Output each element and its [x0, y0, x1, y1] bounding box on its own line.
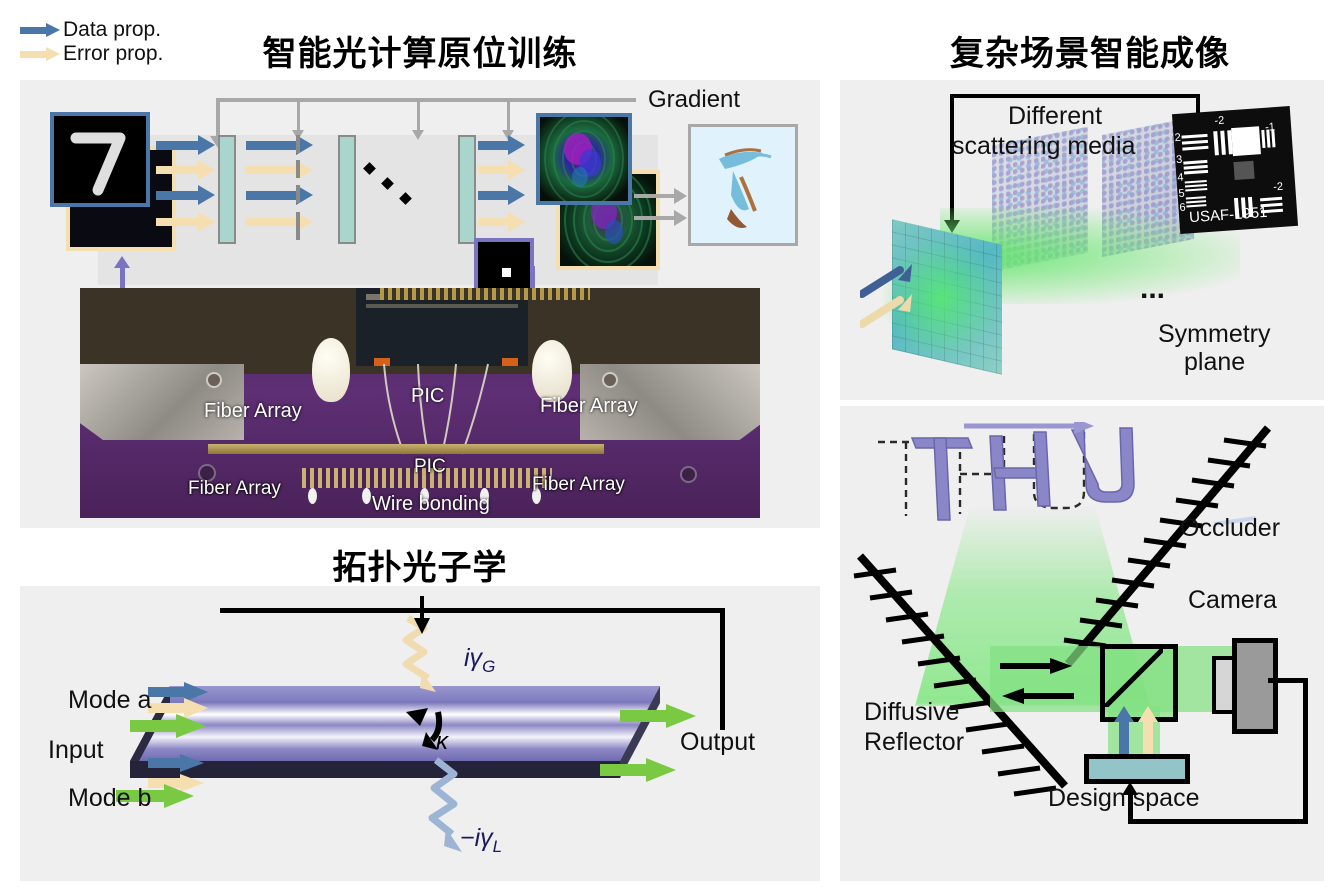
beam-arrow-forward: [1000, 658, 1074, 679]
optical-layer-plate: [218, 135, 236, 244]
camera-body: [1232, 638, 1278, 734]
gradient-drop-arrow-2: [412, 130, 424, 140]
gradient-heatmap: [691, 127, 795, 243]
beam-arrow-backward: [1000, 688, 1074, 709]
mode-b-label: Mode b: [68, 784, 151, 812]
design-space-arrow-error: [1138, 706, 1158, 759]
speckle-pattern: [540, 117, 628, 201]
usaf-1951-target: USAF-1951 -2 -1 -2 2 3 4 5 6: [1172, 106, 1298, 234]
chip-overlay-label-wire-bonding: Wire bonding: [372, 493, 490, 516]
page-title-imaging: 复杂场景智能成像: [840, 26, 1340, 75]
panel-training: Gradient: [20, 80, 820, 528]
input-arrow-mode-a-signal: [130, 714, 208, 743]
panel-optics-setup: Occluder Camera Diffusive Reflector Desi…: [840, 406, 1324, 881]
panel-topology: Mode a Input Mode b Output κ iγG −iγL: [20, 586, 820, 881]
input-label: Input: [48, 736, 104, 764]
camera-label: Camera: [1188, 586, 1277, 614]
gain-symbol-label: iγG: [464, 644, 495, 677]
chip-overlay-label-fiber-array-left: Fiber Array: [204, 400, 302, 423]
output-label: Output: [680, 728, 755, 756]
symmetry-plane-label-line1: Symmetry: [1158, 320, 1271, 348]
gain-symbol-sub: G: [482, 657, 495, 676]
optical-layer-plate: [338, 135, 356, 244]
design-space-arrow-data: [1114, 706, 1134, 759]
gain-incoming-arrow: [412, 596, 436, 641]
gradient-line-down: [216, 98, 220, 140]
gain-symbol-text: iγ: [464, 644, 482, 672]
incident-arrow-data: [860, 264, 916, 298]
scattering-media-label-line2: scattering media: [952, 132, 1135, 160]
chip-overlay-label-fiber-array-right: Fiber Array: [540, 395, 638, 418]
page-title-training: 智能光计算原位训练: [20, 26, 820, 75]
chip-label-pic: PIC: [414, 456, 446, 478]
usaf-label: USAF-1951: [1189, 203, 1280, 227]
gradient-drop-2: [417, 102, 420, 132]
bond-wires: [370, 362, 550, 456]
chip-label-fiber-array-left: Fiber Array: [188, 478, 281, 500]
gradient-drop-3: [507, 102, 510, 132]
loss-symbol-label: −iγL: [460, 824, 502, 857]
diffusive-reflector-label-line1: Diffusive: [864, 698, 959, 726]
occluder-label: Occluder: [1180, 514, 1280, 542]
design-space-plate: [1084, 754, 1190, 784]
ellipsis-label: ...: [1140, 272, 1165, 306]
panel-imaging: USAF-1951 -2 -1 -2 2 3 4 5 6 Different s…: [840, 80, 1324, 400]
scattering-media-label-line1: Different: [1008, 102, 1102, 130]
gradient-drop-1: [297, 102, 300, 132]
usaf-pointer-line: [952, 94, 1200, 98]
gradient-label: Gradient: [648, 87, 740, 114]
output-data-speckle: [536, 113, 632, 205]
gold-pad-row-top: [380, 288, 590, 300]
loss-symbol-sub: L: [493, 837, 502, 856]
coupling-arrow-icon: [398, 706, 460, 761]
optical-layer-plate: [458, 135, 476, 244]
output-arrow-bottom: [600, 758, 678, 787]
mode-a-label: Mode a: [68, 686, 151, 714]
gradient-map-image: [688, 124, 798, 246]
incident-arrow-error: [860, 294, 916, 328]
digit-seven-glyph: [54, 116, 146, 203]
page-title-topology: 拓扑光子学: [20, 540, 820, 589]
chip-label-fiber-array-right: Fiber Array: [532, 474, 625, 496]
chip-overlay-label-pic: PIC: [411, 385, 444, 408]
coupling-kappa-label: κ: [436, 728, 448, 756]
loss-zigzag-icon: [418, 756, 498, 881]
symmetry-plane-label-line2: plane: [1184, 348, 1245, 376]
design-space-label: Design space: [1048, 784, 1199, 812]
diffusive-reflector-label-line2: Reflector: [864, 728, 964, 756]
gradient-line: [218, 98, 636, 102]
loss-symbol-text: −iγ: [460, 824, 493, 852]
input-digit-image: [50, 112, 150, 207]
